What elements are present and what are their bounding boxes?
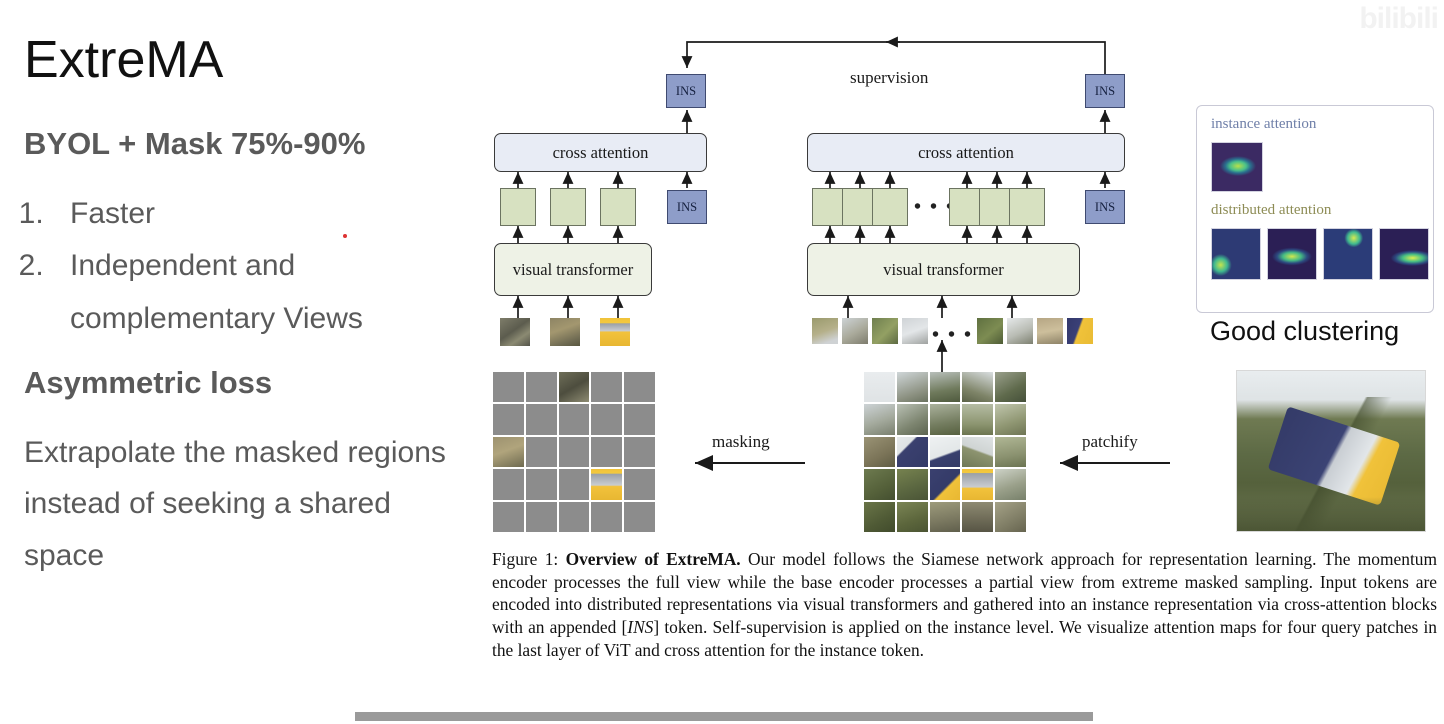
instance-attention-map [1211,142,1263,192]
input-patch [842,318,868,344]
mask-cell [559,404,590,434]
mask-cell [493,372,524,402]
mask-cell [591,502,622,532]
input-patch [600,318,630,346]
mask-cell [493,502,524,532]
token-box [1009,188,1045,226]
ins-token-right-output: INS [1085,74,1125,108]
input-patch [812,318,838,344]
image-patch [995,372,1026,402]
token-box [600,188,636,226]
input-patch [500,318,530,346]
caption-figure-number: Figure 1: [492,549,558,569]
video-progress-bar[interactable] [355,712,1093,721]
image-patch [995,502,1026,532]
mask-cell [624,502,655,532]
mask-cell [624,437,655,467]
cross-attention-block-right: cross attention [807,133,1125,172]
caption-ins-italic: INS [627,617,653,637]
foreground-vegetation [1237,497,1425,531]
body-paragraph: Extrapolate the masked regions instead o… [24,427,474,582]
distributed-attention-map [1267,228,1317,280]
good-clustering-annotation: Good clustering [1210,316,1399,347]
red-cursor-dot [343,234,347,238]
distributed-attention-map [1211,228,1261,280]
image-patch [930,469,961,499]
image-patch [962,404,993,434]
supervision-label: supervision [850,68,928,88]
mask-cell [624,404,655,434]
visual-transformer-right: visual transformer [807,243,1080,296]
attention-visualization-panel: instance attention distributed attention [1196,105,1434,313]
image-patch [995,469,1026,499]
input-patch [1007,318,1033,344]
page-title: ExtreMA [24,34,474,86]
image-patch [897,502,928,532]
mask-cell [559,469,590,499]
mask-cell [624,469,655,499]
input-patch [1067,318,1093,344]
mask-cell [526,404,557,434]
list-item: Independent and complementary Views [52,240,474,345]
heading-asymmetric-loss: Asymmetric loss [24,365,474,401]
train-body [1268,406,1401,505]
distributed-attention-map [1379,228,1429,280]
mask-cell [559,437,590,467]
image-patch [864,437,895,467]
image-patch [995,437,1026,467]
mask-cell [559,502,590,532]
instance-attention-label: instance attention [1211,116,1316,133]
mask-cell [526,469,557,499]
image-patch [930,404,961,434]
mask-cell [624,372,655,402]
heading-byol-mask: BYOL + Mask 75%-90% [24,126,474,162]
image-patch [930,437,961,467]
mask-cell [526,437,557,467]
input-patch [872,318,898,344]
image-patch [897,404,928,434]
image-patch [930,502,961,532]
ins-token-right-input: INS [1085,190,1125,224]
mask-cell [526,502,557,532]
input-patch [902,318,928,344]
left-text-column: ExtreMA BYOL + Mask 75%-90% Faster Indep… [24,34,474,582]
cross-attention-block-left: cross attention [494,133,707,172]
list-item: Faster [52,188,474,241]
ins-token-left-input: INS [667,190,707,224]
token-box [500,188,536,226]
masking-label: masking [712,432,770,452]
image-patch [864,469,895,499]
visible-patch-cell [493,437,524,467]
ins-token-left-output: INS [666,74,706,108]
image-patch [995,404,1026,434]
image-patch [864,502,895,532]
token-box [550,188,586,226]
numbered-list: Faster Independent and complementary Vie… [24,188,474,346]
mask-cell [526,372,557,402]
visual-transformer-left: visual transformer [494,243,652,296]
distributed-attention-label: distributed attention [1211,202,1331,219]
token-box [872,188,908,226]
figure-caption: Figure 1: Overview of ExtreMA. Our model… [492,548,1437,661]
image-patch [962,469,993,499]
mask-cell [591,437,622,467]
caption-bold-title: Overview of ExtreMA. [566,549,741,569]
image-patch [897,437,928,467]
source-image-train-photo [1236,370,1426,532]
image-patch [864,372,895,402]
image-patch [962,502,993,532]
mask-cell [493,469,524,499]
visible-patch-cell [591,469,622,499]
image-patch [930,372,961,402]
slide-canvas: bilibili ExtreMA BYOL + Mask 75%-90% Fas… [0,0,1444,724]
input-patch [1037,318,1063,344]
masked-image-grid [493,372,655,532]
patchify-label: patchify [1082,432,1138,452]
sky-band [1237,371,1425,397]
image-patch [897,469,928,499]
mask-cell [591,372,622,402]
input-patch [550,318,580,346]
image-patch [962,372,993,402]
distributed-attention-map [1323,228,1373,280]
image-patch [962,437,993,467]
image-patch [897,372,928,402]
visible-patch-cell [559,372,590,402]
patchified-image-grid [864,372,1026,532]
mask-cell [493,404,524,434]
input-patch [977,318,1003,344]
mask-cell [591,404,622,434]
image-patch [864,404,895,434]
